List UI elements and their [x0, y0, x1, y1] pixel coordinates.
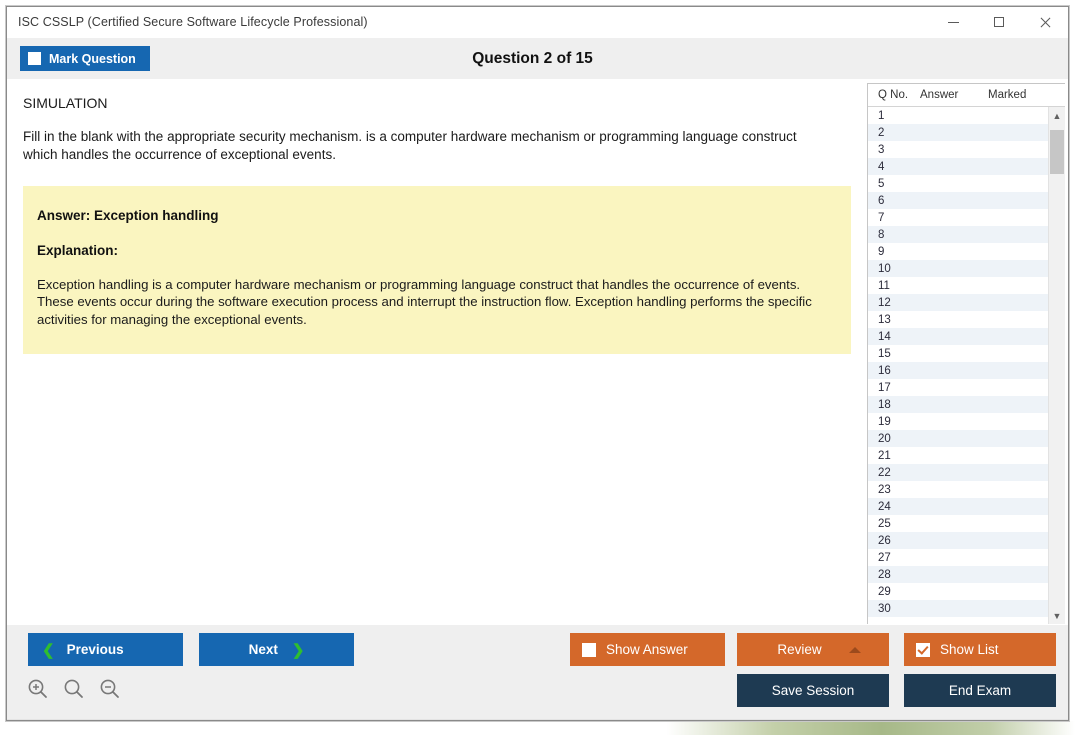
close-button[interactable]: [1022, 7, 1068, 38]
question-list-row[interactable]: 2: [868, 124, 1048, 141]
question-list-row[interactable]: 23: [868, 481, 1048, 498]
next-button[interactable]: Next ❯: [199, 633, 354, 666]
question-counter: Question 2 of 15: [0, 50, 1068, 68]
question-list-row[interactable]: 29: [868, 583, 1048, 600]
mark-question-checkbox-icon[interactable]: [28, 52, 41, 65]
zoom-toolbar: [25, 676, 123, 702]
zoom-icon[interactable]: [61, 676, 87, 702]
mark-question-button[interactable]: Mark Question: [20, 46, 150, 71]
question-list-row[interactable]: 9: [868, 243, 1048, 260]
question-list-row[interactable]: 10: [868, 260, 1048, 277]
question-list-row[interactable]: 7: [868, 209, 1048, 226]
minimize-button[interactable]: [930, 7, 976, 38]
question-list-row[interactable]: 13: [868, 311, 1048, 328]
question-number: 23: [868, 484, 920, 496]
footer-divider: [7, 719, 1068, 720]
answer-line: Answer: Exception handling: [37, 208, 833, 223]
question-number: 22: [868, 467, 920, 479]
question-number: 25: [868, 518, 920, 530]
save-session-button[interactable]: Save Session: [737, 674, 889, 707]
close-icon: [1039, 16, 1052, 29]
question-content-pane: SIMULATION Fill in the blank with the ap…: [7, 80, 867, 624]
exam-application-window: ISC CSSLP (Certified Secure Software Lif…: [6, 6, 1069, 721]
question-number: 28: [868, 569, 920, 581]
question-number: 29: [868, 586, 920, 598]
question-number: 3: [868, 144, 920, 156]
question-list-row[interactable]: 8: [868, 226, 1048, 243]
question-number: 19: [868, 416, 920, 428]
next-label: Next: [249, 642, 278, 657]
question-number: 14: [868, 331, 920, 343]
chevron-right-icon: ❯: [292, 641, 305, 659]
question-list-row[interactable]: 6: [868, 192, 1048, 209]
question-number: 24: [868, 501, 920, 513]
show-answer-label: Show Answer: [606, 642, 688, 657]
desktop-wallpaper-strip: [0, 721, 1075, 735]
question-number: 6: [868, 195, 920, 207]
mark-question-label: Mark Question: [49, 52, 136, 66]
question-number: 12: [868, 297, 920, 309]
question-list-row[interactable]: 1: [868, 107, 1048, 124]
previous-label: Previous: [67, 642, 124, 657]
question-list-row[interactable]: 30: [868, 600, 1048, 617]
scrollbar-thumb[interactable]: [1050, 130, 1064, 174]
question-number: 18: [868, 399, 920, 411]
maximize-button[interactable]: [976, 7, 1022, 38]
show-answer-button[interactable]: Show Answer: [570, 633, 725, 666]
question-list-header: Q No. Answer Marked: [868, 84, 1065, 107]
footer-primary-row: ❮ Previous Next ❯ Show Answer Review Sho…: [7, 633, 1068, 666]
save-session-label: Save Session: [772, 683, 855, 698]
maximize-icon: [994, 17, 1004, 27]
question-list-scroll-area: 1234567891011121314151617181920212223242…: [868, 107, 1065, 624]
show-list-button[interactable]: Show List: [904, 633, 1056, 666]
end-exam-label: End Exam: [949, 683, 1011, 698]
footer-secondary-row: Save Session End Exam: [7, 674, 1068, 707]
main-body: SIMULATION Fill in the blank with the ap…: [7, 79, 1068, 624]
show-list-checkbox-icon[interactable]: [916, 643, 930, 657]
question-text: Fill in the blank with the appropriate s…: [23, 128, 823, 164]
zoom-in-icon[interactable]: [25, 676, 51, 702]
question-list-row[interactable]: 21: [868, 447, 1048, 464]
question-list-row[interactable]: 3: [868, 141, 1048, 158]
chevron-up-icon: [849, 647, 861, 653]
question-list-row[interactable]: 5: [868, 175, 1048, 192]
question-list-row[interactable]: 12: [868, 294, 1048, 311]
show-list-label: Show List: [940, 642, 999, 657]
question-number: 1: [868, 110, 920, 122]
scroll-up-button[interactable]: ▲: [1049, 107, 1065, 124]
minimize-icon: [948, 22, 959, 23]
question-list-row[interactable]: 27: [868, 549, 1048, 566]
question-list-row[interactable]: 4: [868, 158, 1048, 175]
question-list-panel: Q No. Answer Marked 12345678910111213141…: [867, 83, 1065, 624]
column-header-marked: Marked: [988, 89, 1048, 101]
question-number: 9: [868, 246, 920, 258]
window-controls: [930, 7, 1068, 38]
column-header-qno: Q No.: [868, 89, 920, 101]
scrollbar-track[interactable]: [1049, 124, 1065, 607]
question-number: 21: [868, 450, 920, 462]
question-number: 10: [868, 263, 920, 275]
question-list-row[interactable]: 16: [868, 362, 1048, 379]
question-list-row[interactable]: 24: [868, 498, 1048, 515]
question-number: 13: [868, 314, 920, 326]
answer-explanation-box: Answer: Exception handling Explanation: …: [23, 186, 851, 355]
previous-button[interactable]: ❮ Previous: [28, 633, 183, 666]
question-list-row[interactable]: 14: [868, 328, 1048, 345]
window-title: ISC CSSLP (Certified Secure Software Lif…: [18, 15, 368, 29]
review-label: Review: [750, 642, 849, 657]
question-list-rows: 1234567891011121314151617181920212223242…: [868, 107, 1048, 624]
question-list-row[interactable]: 25: [868, 515, 1048, 532]
question-list-row[interactable]: 20: [868, 430, 1048, 447]
question-number: 7: [868, 212, 920, 224]
question-number: 15: [868, 348, 920, 360]
question-list-row[interactable]: 28: [868, 566, 1048, 583]
explanation-heading: Explanation:: [37, 243, 833, 258]
chevron-left-icon: ❮: [42, 641, 55, 659]
question-number: 27: [868, 552, 920, 564]
exam-toolbar: Mark Question Question 2 of 15: [7, 38, 1068, 79]
question-list-row[interactable]: 17: [868, 379, 1048, 396]
question-type-label: SIMULATION: [23, 95, 867, 111]
question-number: 4: [868, 161, 920, 173]
explanation-text: Exception handling is a computer hardwar…: [37, 276, 833, 329]
question-number: 30: [868, 603, 920, 615]
question-number: 20: [868, 433, 920, 445]
question-list-row[interactable]: 11: [868, 277, 1048, 294]
question-number: 26: [868, 535, 920, 547]
question-number: 11: [868, 280, 920, 292]
question-number: 8: [868, 229, 920, 241]
zoom-out-icon[interactable]: [97, 676, 123, 702]
window-titlebar[interactable]: ISC CSSLP (Certified Secure Software Lif…: [7, 7, 1068, 38]
question-number: 2: [868, 127, 920, 139]
exam-footer: ❮ Previous Next ❯ Show Answer Review Sho…: [7, 624, 1068, 720]
show-answer-checkbox-icon[interactable]: [582, 643, 596, 657]
review-dropdown[interactable]: Review: [737, 633, 889, 666]
question-list-row[interactable]: 18: [868, 396, 1048, 413]
question-number: 17: [868, 382, 920, 394]
question-list-row[interactable]: 26: [868, 532, 1048, 549]
question-list-row[interactable]: 19: [868, 413, 1048, 430]
question-number: 16: [868, 365, 920, 377]
question-list-row[interactable]: 22: [868, 464, 1048, 481]
scroll-down-button[interactable]: ▼: [1049, 607, 1065, 624]
question-list-row[interactable]: 15: [868, 345, 1048, 362]
end-exam-button[interactable]: End Exam: [904, 674, 1056, 707]
column-header-answer: Answer: [920, 89, 988, 101]
question-number: 5: [868, 178, 920, 190]
question-list-scrollbar[interactable]: ▲ ▼: [1048, 107, 1065, 624]
